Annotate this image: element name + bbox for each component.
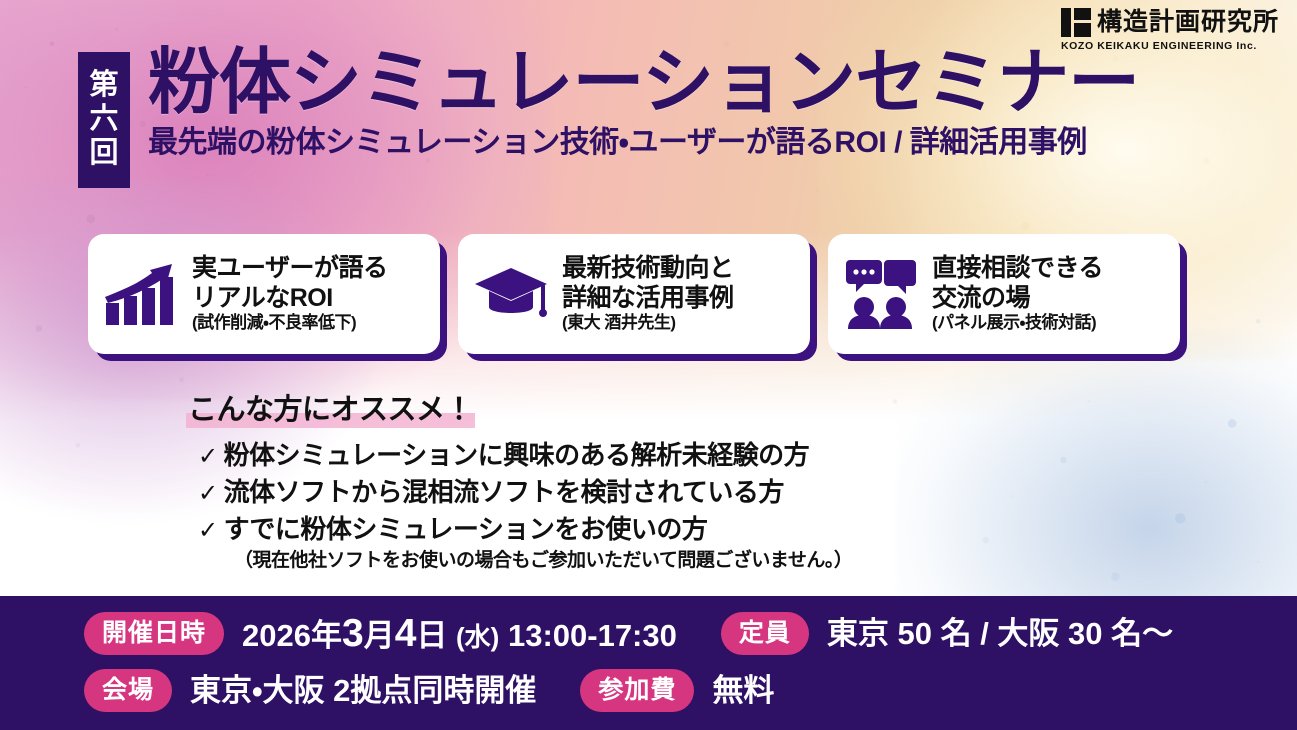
graduation-cap-icon — [472, 255, 550, 333]
list-item-label: すでに粉体シミュレーションをお使いの方 — [224, 511, 708, 548]
logo-primary-row: 構造計画研究所 — [1061, 8, 1279, 37]
event-info-row-1: 開催日時 2026年3月4日 (水) 13:00-17:30 定員 東京 50 … — [0, 612, 1297, 655]
feature-card-networking-note: (パネル展示・技術対話) — [932, 313, 1096, 332]
event-info-bar: 開催日時 2026年3月4日 (水) 13:00-17:30 定員 東京 50 … — [0, 596, 1297, 730]
venue-label-badge: 会場 — [84, 669, 172, 712]
recommend-heading: こんな方にオススメ！ — [186, 392, 475, 428]
event-date-month-unit: 月 — [364, 618, 395, 653]
capacity-value: 東京 50 名 / 大阪 30 名〜 — [827, 618, 1173, 649]
recommend-note: （現在他社ソフトをお使いの場合もご参加いただいて問題ございません。） — [186, 549, 852, 574]
list-item: ✓ 流体ソフトから混相流ソフトを検討されている方 — [186, 474, 852, 511]
fee-label-badge: 参加費 — [580, 669, 694, 712]
recommend-section: こんな方にオススメ！ ✓ 粉体シミュレーションに興味のある解析未経験の方 ✓ 流… — [186, 392, 852, 574]
company-name-jp: 構造計画研究所 — [1097, 10, 1279, 35]
event-time: 13:00-17:30 — [508, 618, 677, 653]
feature-card-tech-note: (東大 酒井先生) — [562, 313, 676, 332]
date-label-badge: 開催日時 — [84, 612, 224, 655]
feature-card-tech: 最新技術動向と 詳細な活用事例 (東大 酒井先生) — [458, 234, 810, 354]
people-conversation-icon — [842, 255, 920, 333]
event-date-year: 2026年 — [242, 618, 342, 653]
feature-card-roi-line2: リアルなROI — [192, 284, 333, 312]
edition-badge: 第 六 回 — [78, 52, 130, 188]
company-logo: 構造計画研究所 KOZO KEIKAKU ENGINEERING Inc. — [1061, 8, 1279, 52]
check-icon: ✓ — [198, 445, 218, 469]
title-texts: 粉体シミュレーションセミナー 最先端の粉体シミュレーション技術・ユーザーが語るR… — [148, 46, 1139, 160]
feature-card-tech-line2: 詳細な活用事例 — [562, 284, 734, 312]
recommend-list: ✓ 粉体シミュレーションに興味のある解析未経験の方 ✓ 流体ソフトから混相流ソフ… — [186, 437, 852, 548]
kozo-keikaku-logo-mark-icon — [1061, 8, 1091, 37]
feature-cards: 実ユーザーが語る リアルなROI (試作削減・不良率低下) 最新技術動向と 詳細… — [88, 234, 1218, 354]
event-date-weekday: (水) — [456, 622, 499, 652]
list-item-label: 流体ソフトから混相流ソフトを検討されている方 — [224, 474, 784, 511]
feature-card-networking-text: 直接相談できる 交流の場 (パネル展示・技術対話) — [932, 254, 1170, 333]
venue-value: 東京・大阪 2拠点同時開催 — [190, 675, 536, 706]
event-date-day: 4 — [395, 612, 417, 655]
check-icon: ✓ — [198, 519, 218, 543]
edition-char-3: 回 — [89, 136, 118, 170]
list-item-label: 粉体シミュレーションに興味のある解析未経験の方 — [224, 437, 809, 474]
fee-value: 無料 — [712, 675, 774, 706]
company-name-en: KOZO KEIKAKU ENGINEERING Inc. — [1061, 40, 1257, 52]
event-info-row-2: 会場 東京・大阪 2拠点同時開催 参加費 無料 — [0, 669, 1297, 712]
seminar-banner: 構造計画研究所 KOZO KEIKAKU ENGINEERING Inc. 第 … — [0, 0, 1297, 730]
edition-char-1: 第 — [89, 68, 118, 102]
feature-card-roi-line1: 実ユーザーが語る — [192, 254, 388, 282]
capacity-label-badge: 定員 — [721, 612, 809, 655]
page-subtitle: 最先端の粉体シミュレーション技術・ユーザーが語るROI / 詳細活用事例 — [148, 126, 1139, 161]
event-date-day-unit: 日 — [416, 618, 447, 653]
feature-card-networking-line2: 交流の場 — [932, 284, 1030, 312]
bar-chart-growth-icon — [102, 255, 180, 333]
feature-card-tech-line1: 最新技術動向と — [562, 254, 734, 282]
feature-card-roi-note: (試作削減・不良率低下) — [192, 313, 356, 332]
list-item: ✓ 粉体シミュレーションに興味のある解析未経験の方 — [186, 437, 852, 474]
feature-card-roi: 実ユーザーが語る リアルなROI (試作削減・不良率低下) — [88, 234, 440, 354]
page-title: 粉体シミュレーションセミナー — [148, 46, 1139, 122]
feature-card-roi-text: 実ユーザーが語る リアルなROI (試作削減・不良率低下) — [192, 254, 430, 333]
edition-char-2: 六 — [89, 102, 118, 136]
list-item: ✓ すでに粉体シミュレーションをお使いの方 — [186, 511, 852, 548]
event-date-month: 3 — [342, 612, 364, 655]
event-date-value: 2026年3月4日 (水) 13:00-17:30 — [242, 614, 677, 653]
feature-card-tech-text: 最新技術動向と 詳細な活用事例 (東大 酒井先生) — [562, 254, 800, 333]
check-icon: ✓ — [198, 482, 218, 506]
feature-card-networking-line1: 直接相談できる — [932, 254, 1103, 282]
feature-card-networking: 直接相談できる 交流の場 (パネル展示・技術対話) — [828, 234, 1180, 354]
title-area: 第 六 回 粉体シミュレーションセミナー 最先端の粉体シミュレーション技術・ユー… — [78, 52, 1139, 188]
